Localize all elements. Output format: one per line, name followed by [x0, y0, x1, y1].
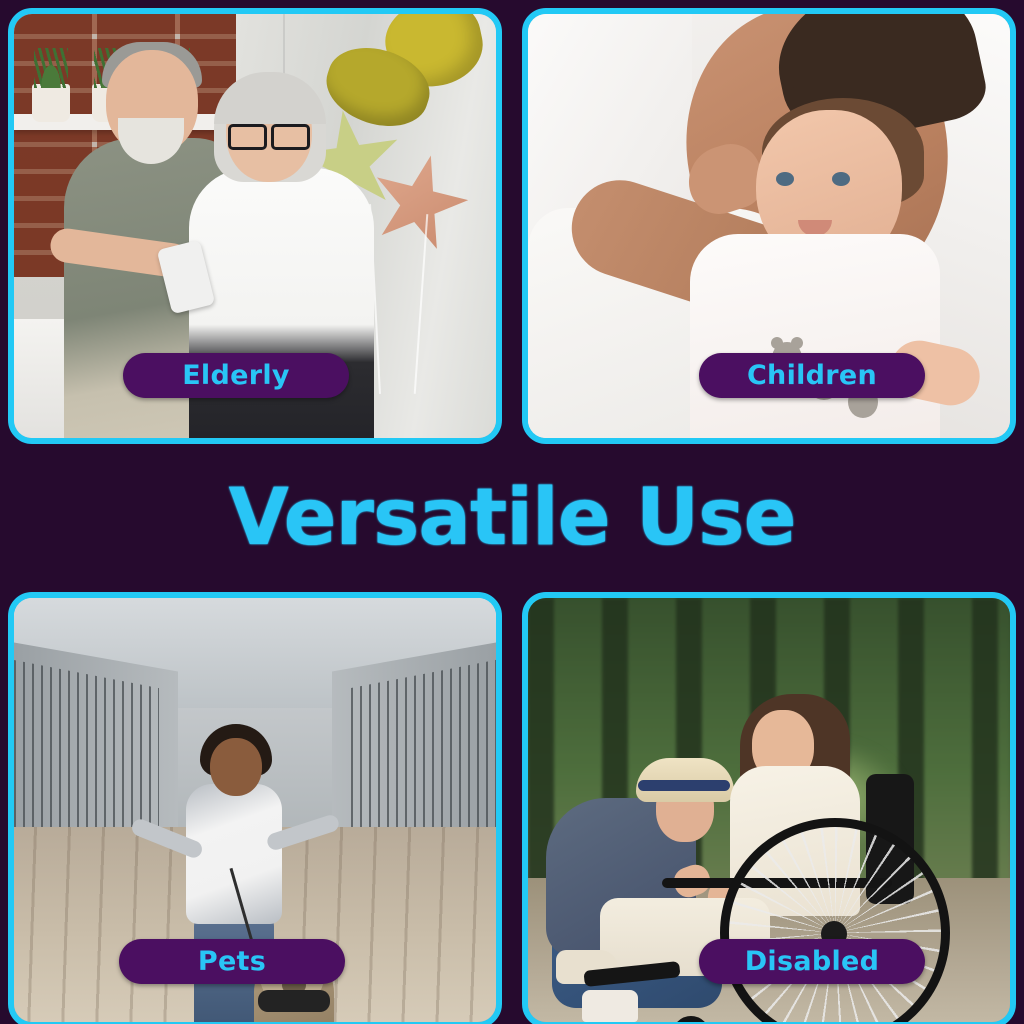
- child-head: [210, 738, 262, 796]
- page-title: Versatile Use: [228, 479, 795, 557]
- label-pill-disabled[interactable]: Disabled: [699, 939, 925, 984]
- eyeglasses-icon: [228, 124, 310, 144]
- hat-band: [638, 780, 730, 791]
- baby-onesie: [690, 234, 940, 438]
- baby-eye: [776, 172, 794, 186]
- crouching-woman-shoe: [582, 990, 638, 1022]
- title-row: Versatile Use: [8, 444, 1016, 592]
- label-pill-children[interactable]: Children: [699, 353, 925, 398]
- versatile-use-collage: Elderly Children Versatile Us: [0, 0, 1024, 1024]
- use-case-card-elderly[interactable]: Elderly: [8, 8, 502, 444]
- use-case-card-children[interactable]: Children: [522, 8, 1016, 444]
- label-pill-elderly[interactable]: Elderly: [123, 353, 349, 398]
- plant-pot-icon: [32, 84, 70, 122]
- use-case-card-pets[interactable]: Pets: [8, 592, 502, 1024]
- baby-eye: [832, 172, 850, 186]
- dog-harness: [258, 990, 330, 1012]
- use-case-card-disabled[interactable]: Disabled: [522, 592, 1016, 1024]
- label-pill-pets[interactable]: Pets: [119, 939, 345, 984]
